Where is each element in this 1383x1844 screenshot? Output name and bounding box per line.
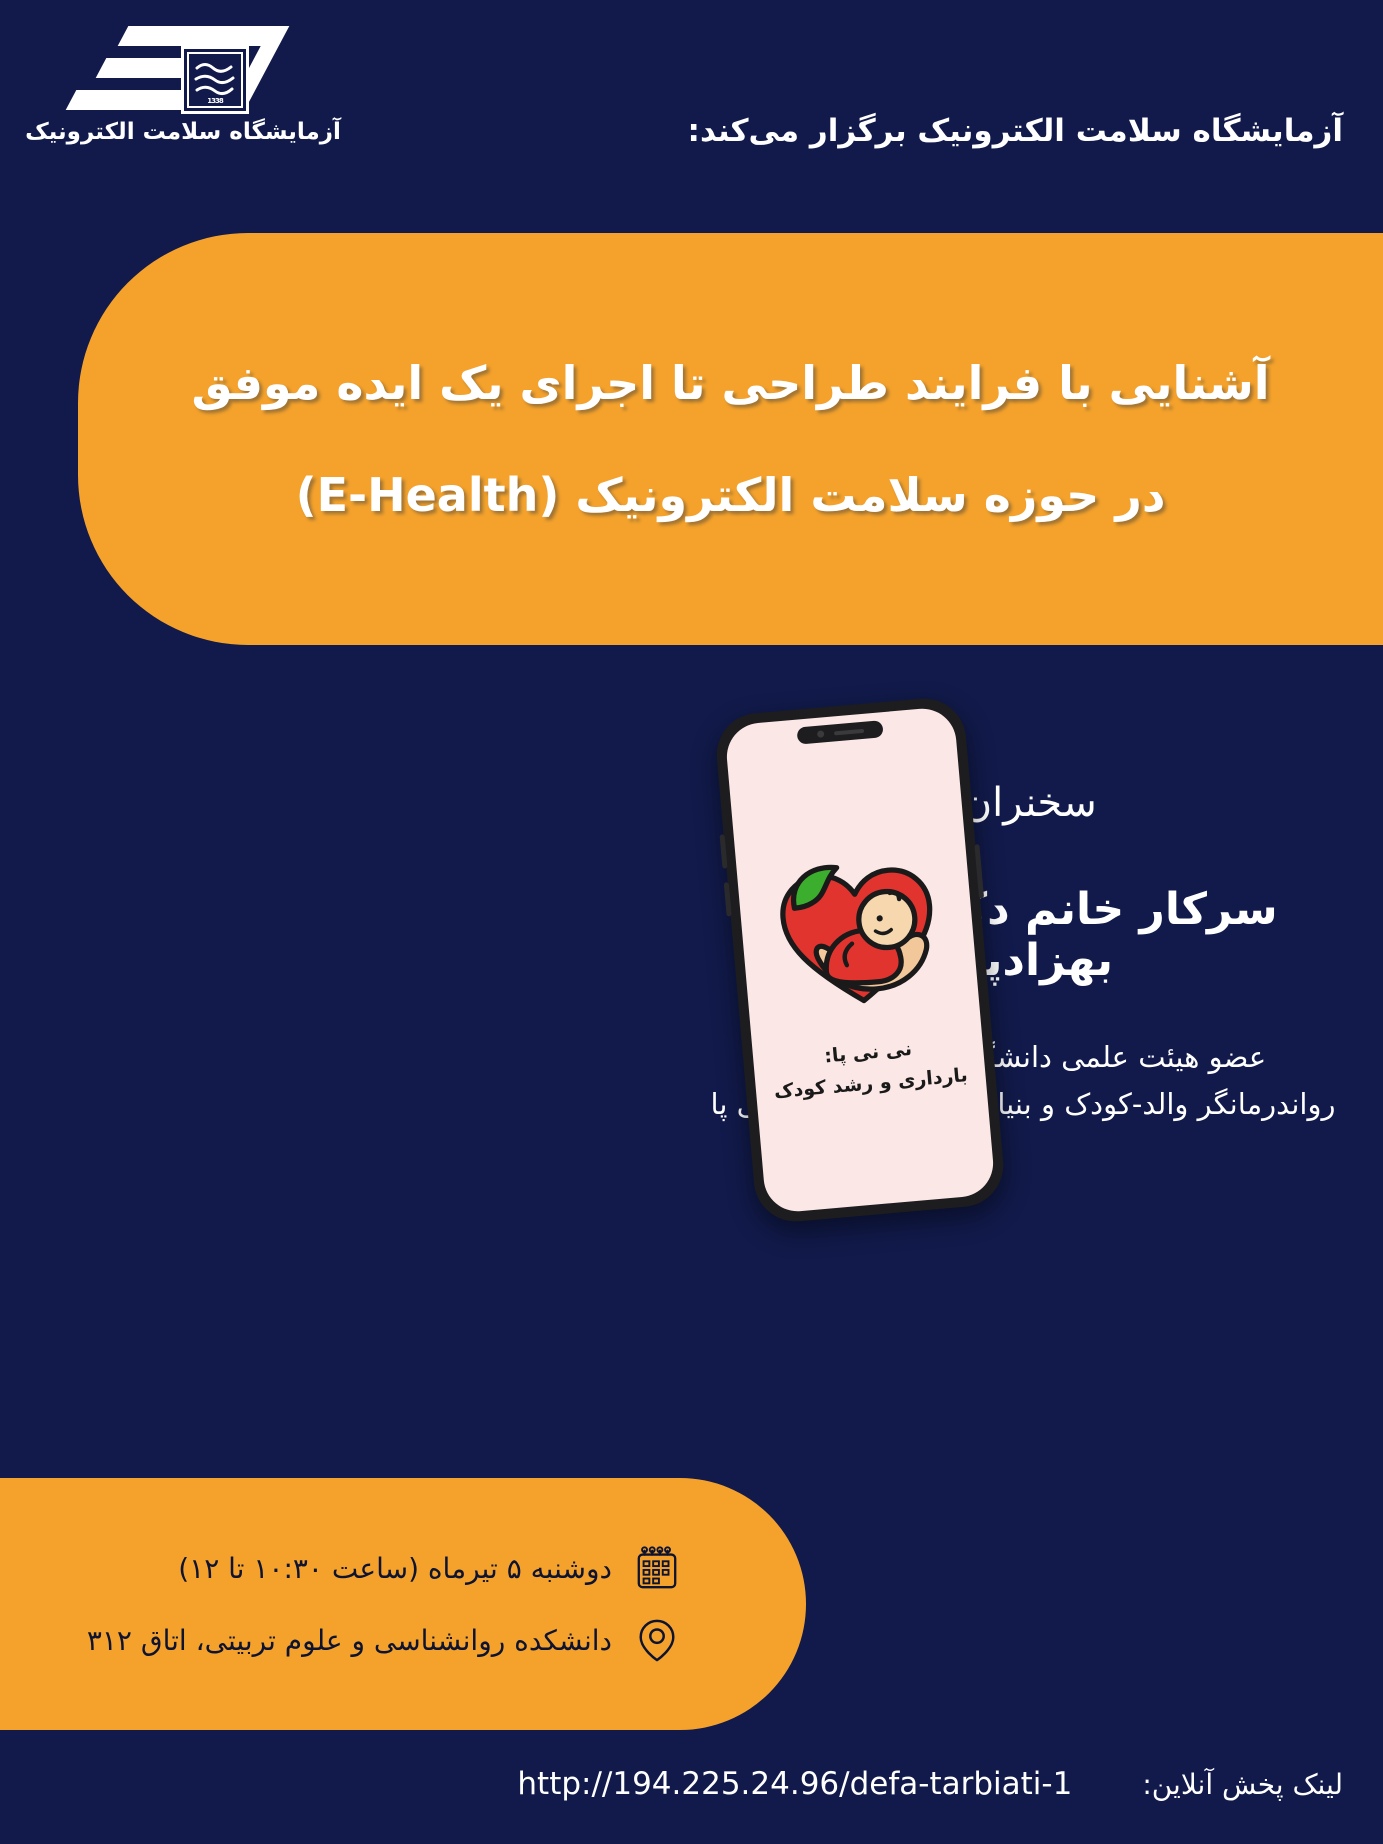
event-location-row: دانشکده روانشناسی و علوم تربیتی، اتاق ۳۱…	[24, 1617, 680, 1663]
lab-name-label: آزمایشگاه سلامت الکترونیک	[18, 119, 348, 145]
svg-text:1338: 1338	[207, 97, 224, 105]
host-announcement: آزمایشگاه سلامت الکترونیک برگزار می‌کند:	[688, 113, 1343, 149]
university-logo-block: 1338 آزمایشگاه سلامت الکترونیک	[18, 18, 348, 145]
event-info-banner: دوشنبه ۵ تیرماه (ساعت ۱۰:۳۰ تا ۱۲) دانشک…	[0, 1478, 806, 1730]
baby-in-heart-hand-icon	[763, 838, 953, 1028]
university-crest-icon: 1338	[181, 46, 249, 114]
title-banner: آشنایی با فرایند طراحی تا اجرای یک ایده …	[78, 233, 1383, 645]
title-line-2: در حوزه سلامت الکترونیک (E-Health)	[296, 468, 1166, 522]
online-stream-label: لینک پخش آنلاین:	[1142, 1768, 1343, 1801]
phone-screen: نی نی پا: بارداری و رشد کودک	[724, 706, 996, 1214]
app-caption: نی نی پا: بارداری و رشد کودک	[770, 1029, 969, 1106]
phone-mockup: نی نی پا: بارداری و رشد کودک	[713, 695, 1006, 1225]
poster-canvas: 1338 آزمایشگاه سلامت الکترونیک آزمایشگاه…	[0, 0, 1383, 1844]
phone-notch	[797, 720, 884, 744]
title-line-1: آشنایی با فرایند طراحی تا اجرای یک ایده …	[191, 356, 1269, 410]
university-logo-icon: 1338	[53, 18, 303, 113]
calendar-icon	[634, 1545, 680, 1591]
event-location-text: دانشکده روانشناسی و علوم تربیتی، اتاق ۳۱…	[87, 1624, 612, 1657]
event-date-row: دوشنبه ۵ تیرماه (ساعت ۱۰:۳۰ تا ۱۲)	[24, 1545, 680, 1591]
location-pin-icon	[634, 1617, 680, 1663]
event-date-text: دوشنبه ۵ تیرماه (ساعت ۱۰:۳۰ تا ۱۲)	[178, 1552, 612, 1585]
footer-link-row: لینک پخش آنلاین: http://194.225.24.96/de…	[40, 1766, 1343, 1802]
online-stream-url[interactable]: http://194.225.24.96/defa-tarbiati-1	[517, 1766, 1072, 1802]
